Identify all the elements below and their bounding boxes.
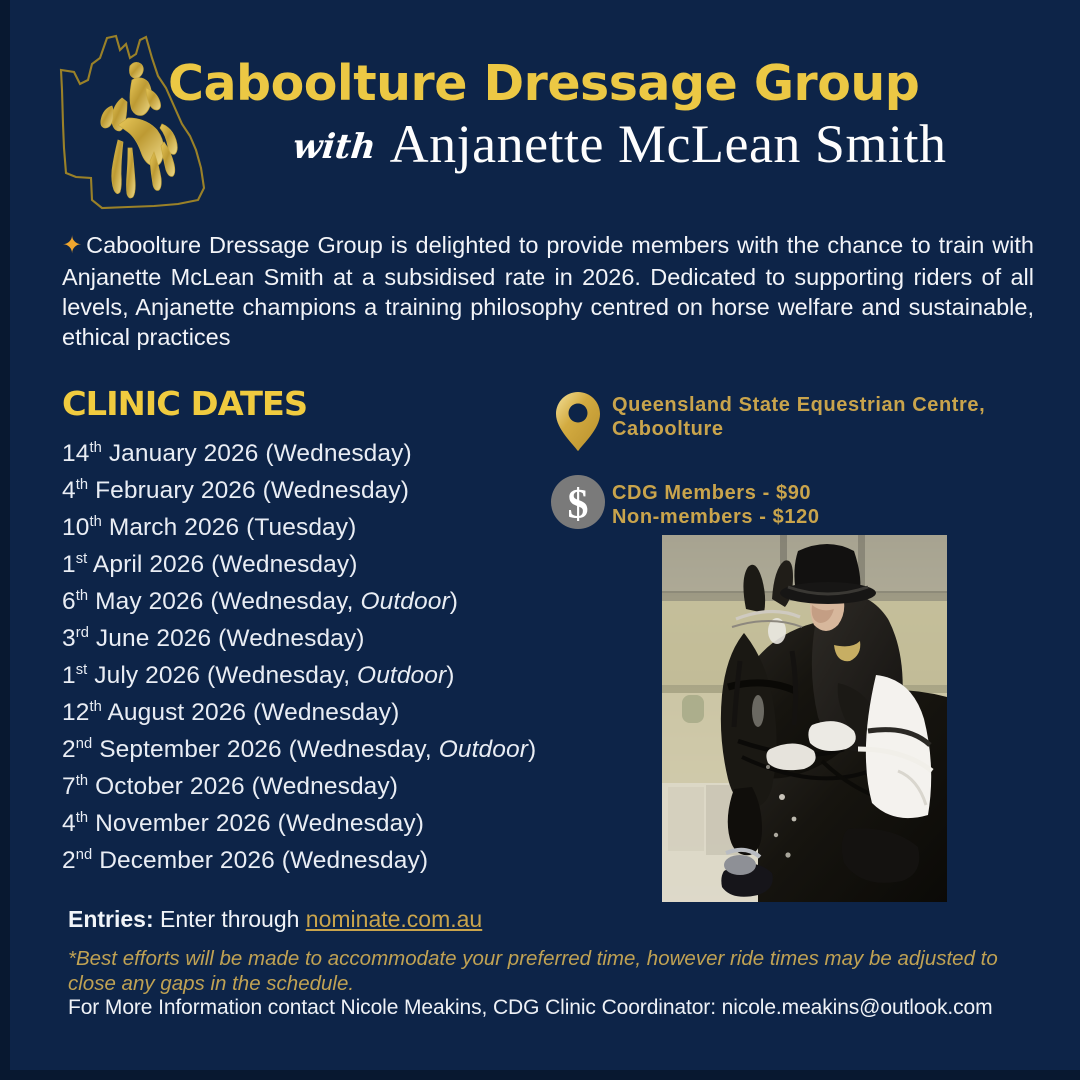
clinic-date-rest: March 2026 (Tuesday) [102, 514, 356, 541]
clinic-dates-section: CLINIC DATES 14th January 2026 (Wednesda… [62, 384, 622, 879]
poster-canvas: Caboolture Dressage Group with Anjanette… [0, 0, 1080, 1080]
clinic-date-day: 7 [62, 773, 76, 800]
clinic-date-ordinal: th [89, 440, 101, 456]
clinic-date-ordinal: th [76, 477, 88, 493]
map-pin-icon [544, 390, 612, 454]
clinic-date-rest: October 2026 (Wednesday) [88, 773, 398, 800]
clinic-date-rest: January 2026 (Wednesday) [102, 440, 412, 467]
dollar-circle-icon: $ [544, 474, 612, 530]
dressage-rider-photo [662, 535, 947, 902]
clinic-date-day: 1 [62, 551, 76, 578]
clinic-date-ordinal: rd [76, 625, 89, 641]
nominate-link[interactable]: nominate.com.au [306, 906, 482, 932]
intro-text: Caboolture Dressage Group is delighted t… [62, 232, 1034, 350]
clinic-date-rest: September 2026 (Wednesday, [92, 736, 438, 763]
presenter-name: Anjanette McLean Smith [390, 117, 947, 171]
clinic-date-close-paren: ) [528, 736, 536, 763]
clinic-date-ordinal: th [76, 810, 88, 826]
clinic-date-ordinal: th [76, 588, 88, 604]
clinic-date-ordinal: th [89, 514, 101, 530]
clinic-date-item: 7th October 2026 (Wednesday) [62, 768, 622, 805]
clinic-date-rest: August 2026 (Wednesday) [102, 699, 400, 726]
clinic-date-ordinal: nd [76, 736, 93, 752]
venue-line-1: Queensland State Equestrian Centre, [612, 394, 985, 418]
clinic-date-ordinal: st [76, 662, 88, 678]
clinic-date-day: 4 [62, 477, 76, 504]
clinic-date-rest: June 2026 (Wednesday) [89, 625, 365, 652]
poster-header: Caboolture Dressage Group with Anjanette… [10, 0, 1080, 218]
clinic-date-item: 1st April 2026 (Wednesday) [62, 546, 622, 583]
clinic-date-rest: December 2026 (Wednesday) [92, 847, 428, 874]
clinic-date-item: 2nd September 2026 (Wednesday, Outdoor) [62, 731, 622, 768]
clinic-date-outdoor-tag: Outdoor [439, 736, 528, 763]
pricing-line-2: Non-members - $120 [612, 506, 820, 530]
clinic-date-rest: February 2026 (Wednesday) [88, 477, 409, 504]
clinic-date-item: 10th March 2026 (Tuesday) [62, 509, 622, 546]
venue-text: Queensland State Equestrian Centre, Cabo… [612, 390, 985, 441]
ride-times-disclaimer: *Best efforts will be made to accommodat… [68, 946, 1033, 996]
clinic-date-item: 3rd June 2026 (Wednesday) [62, 620, 622, 657]
clinic-date-item: 6th May 2026 (Wednesday, Outdoor) [62, 583, 622, 620]
clinic-date-day: 4 [62, 810, 76, 837]
clinic-date-ordinal: st [76, 551, 88, 567]
clinic-date-ordinal: nd [76, 847, 93, 863]
with-word: with [291, 127, 378, 167]
sparkles-icon: ✦ [62, 232, 82, 259]
presenter-row: with Anjanette McLean Smith [168, 117, 1068, 171]
clinic-date-rest: November 2026 (Wednesday) [88, 810, 424, 837]
clinic-date-rest: April 2026 (Wednesday) [87, 551, 357, 578]
clinic-dates-list: 14th January 2026 (Wednesday)4th Februar… [62, 435, 622, 879]
venue-line-2: Caboolture [612, 418, 985, 442]
entries-text: Enter through [154, 906, 306, 932]
svg-text:$: $ [568, 482, 589, 528]
intro-paragraph: ✦Caboolture Dressage Group is delighted … [62, 230, 1034, 352]
clinic-date-outdoor-tag: Outdoor [357, 662, 446, 689]
clinic-date-item: 2nd December 2026 (Wednesday) [62, 842, 622, 879]
entries-label: Entries: [68, 906, 154, 932]
entries-line: Entries: Enter through nominate.com.au [68, 906, 482, 933]
clinic-date-day: 3 [62, 625, 76, 652]
venue-info: Queensland State Equestrian Centre, Cabo… [544, 390, 985, 454]
pricing-info: $ CDG Members - $90 Non-members - $120 [544, 474, 820, 530]
pricing-text: CDG Members - $90 Non-members - $120 [612, 474, 820, 529]
clinic-date-day: 2 [62, 736, 76, 763]
clinic-date-rest: July 2026 (Wednesday, [87, 662, 357, 689]
clinic-date-item: 1st July 2026 (Wednesday, Outdoor) [62, 657, 622, 694]
clinic-date-day: 14 [62, 440, 89, 467]
clinic-date-outdoor-tag: Outdoor [361, 588, 450, 615]
title-block: Caboolture Dressage Group with Anjanette… [168, 58, 1068, 171]
contact-line: For More Information contact Nicole Meak… [68, 996, 993, 1020]
clinic-date-ordinal: th [89, 699, 101, 715]
clinic-date-day: 2 [62, 847, 76, 874]
clinic-date-ordinal: th [76, 773, 88, 789]
clinic-date-item: 12th August 2026 (Wednesday) [62, 694, 622, 731]
clinic-date-day: 12 [62, 699, 89, 726]
clinic-date-close-paren: ) [450, 588, 458, 615]
page-title: Caboolture Dressage Group [168, 58, 1068, 109]
clinic-date-item: 14th January 2026 (Wednesday) [62, 435, 622, 472]
clinic-date-item: 4th February 2026 (Wednesday) [62, 472, 622, 509]
clinic-date-day: 10 [62, 514, 89, 541]
clinic-date-item: 4th November 2026 (Wednesday) [62, 805, 622, 842]
clinic-date-day: 6 [62, 588, 76, 615]
clinic-date-close-paren: ) [446, 662, 454, 689]
clinic-date-day: 1 [62, 662, 76, 689]
clinic-date-rest: May 2026 (Wednesday, [88, 588, 360, 615]
pricing-line-1: CDG Members - $90 [612, 482, 820, 506]
